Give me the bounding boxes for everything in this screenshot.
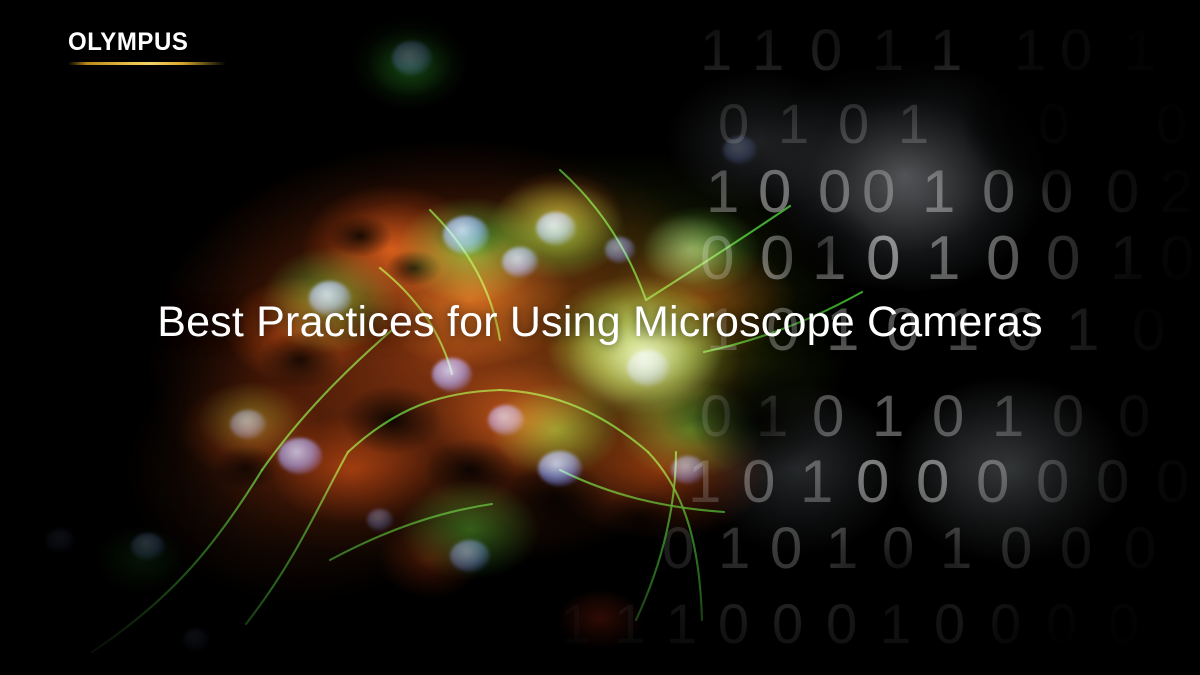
binary-digit: 0 bbox=[866, 228, 900, 290]
slide-canvas: 1101110101010010001000200101001010101010… bbox=[0, 0, 1200, 675]
binary-digit: 0 bbox=[1106, 162, 1139, 222]
binary-digit: 0 bbox=[1046, 596, 1077, 652]
binary-digit: 1 bbox=[826, 520, 858, 578]
binary-digit: 0 bbox=[1156, 96, 1187, 152]
binary-digit: 0 bbox=[976, 452, 1009, 512]
binary-digit: 1 bbox=[800, 452, 833, 512]
binary-digit: 0 bbox=[718, 96, 749, 152]
binary-digit: 1 bbox=[880, 596, 911, 652]
binary-digit: 1 bbox=[1124, 22, 1156, 80]
binary-digit: 0 bbox=[772, 596, 803, 652]
binary-digit: 1 bbox=[700, 22, 732, 80]
binary-digit: 0 bbox=[1060, 22, 1092, 80]
binary-digit: 0 bbox=[1052, 388, 1084, 446]
binary-digit: 0 bbox=[1046, 228, 1080, 290]
binary-digit: 0 bbox=[826, 596, 857, 652]
binary-digit: 0 bbox=[1040, 162, 1073, 222]
binary-digit: 0 bbox=[932, 388, 964, 446]
olympus-logo: OLYMPUS bbox=[68, 30, 226, 65]
binary-digit: 0 bbox=[812, 388, 844, 446]
binary-digit: 0 bbox=[986, 228, 1020, 290]
binary-digit: 0 bbox=[1038, 96, 1069, 152]
binary-digit: 1 bbox=[872, 22, 904, 80]
binary-digit: 0 bbox=[1060, 520, 1092, 578]
binary-digit: 1 bbox=[706, 162, 739, 222]
binary-digit: 0 bbox=[770, 520, 802, 578]
binary-digit: 0 bbox=[760, 228, 794, 290]
binary-digit: 1 bbox=[560, 596, 591, 652]
olympus-logo-underline bbox=[68, 62, 226, 65]
binary-digit: 1 bbox=[872, 388, 904, 446]
binary-digit: 0 bbox=[982, 162, 1015, 222]
binary-digit: 1 bbox=[718, 520, 750, 578]
binary-digit: 1 bbox=[688, 452, 721, 512]
binary-digit: 0 bbox=[662, 520, 694, 578]
binary-digit: 1 bbox=[752, 22, 784, 80]
binary-digit: 0 bbox=[934, 596, 965, 652]
binary-digit: 0 bbox=[810, 22, 842, 80]
binary-digit: 1 bbox=[756, 388, 788, 446]
binary-digit: 0 bbox=[700, 388, 732, 446]
binary-digit: 0 bbox=[916, 452, 949, 512]
binary-digit: 0 bbox=[700, 228, 734, 290]
binary-digit: 0 bbox=[1096, 452, 1129, 512]
binary-digit: 0 bbox=[1156, 452, 1189, 512]
binary-digit: 1 bbox=[614, 596, 645, 652]
binary-digit: 1 bbox=[666, 596, 697, 652]
binary-digit: 1 bbox=[898, 96, 929, 152]
binary-digit: 0 bbox=[718, 596, 749, 652]
binary-digit: 0 bbox=[1108, 596, 1139, 652]
binary-digit: 0 bbox=[856, 452, 889, 512]
binary-digit: 0 bbox=[990, 596, 1021, 652]
olympus-wordmark: OLYMPUS bbox=[68, 30, 220, 55]
binary-digit: 0 bbox=[838, 96, 869, 152]
binary-digit: 0 bbox=[1160, 228, 1194, 290]
binary-digit: 1 bbox=[992, 388, 1024, 446]
binary-digit: 0 bbox=[742, 452, 775, 512]
binary-digit: 1 bbox=[926, 228, 960, 290]
binary-digit: 1 bbox=[922, 162, 955, 222]
binary-digit: 1 bbox=[812, 228, 846, 290]
binary-digit: 0 bbox=[1118, 388, 1150, 446]
binary-digit: 1 bbox=[1110, 228, 1144, 290]
slide-title: Best Practices for Using Microscope Came… bbox=[0, 298, 1200, 347]
binary-digit: 0 bbox=[1036, 452, 1069, 512]
binary-digit: 0 bbox=[818, 162, 851, 222]
binary-digit: 0 bbox=[1000, 520, 1032, 578]
binary-digit: 0 bbox=[862, 162, 895, 222]
binary-digit: 0 bbox=[1124, 520, 1156, 578]
binary-digit: 2 bbox=[1160, 162, 1193, 222]
binary-digit: 1 bbox=[1014, 22, 1046, 80]
binary-digit: 0 bbox=[758, 162, 791, 222]
binary-digit: 1 bbox=[940, 520, 972, 578]
binary-digit: 1 bbox=[778, 96, 809, 152]
binary-digit: 0 bbox=[882, 520, 914, 578]
binary-digit: 1 bbox=[930, 22, 962, 80]
